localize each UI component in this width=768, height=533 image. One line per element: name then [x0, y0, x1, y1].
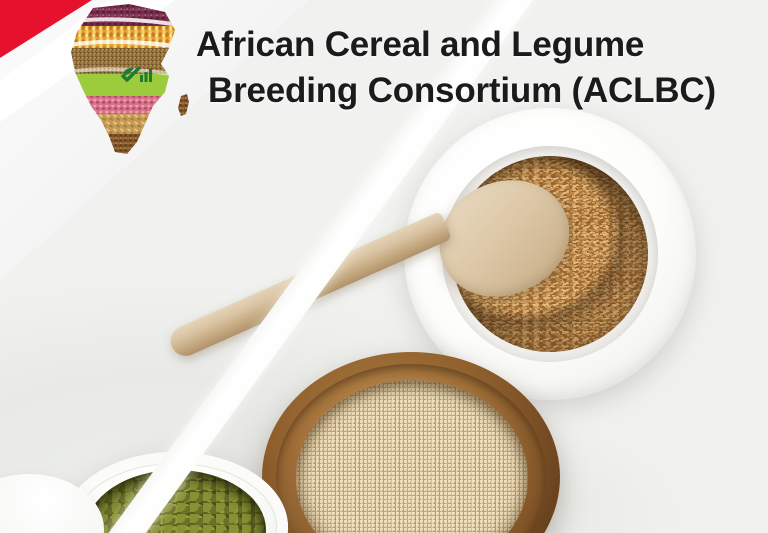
band-wheat: [57, 114, 202, 134]
aclbc-banner: African Cereal and Legume Breeding Conso…: [0, 0, 768, 533]
title-line-2: Breeding Consortium (ACLBC): [196, 68, 756, 114]
banner-title: African Cereal and Legume Breeding Conso…: [196, 22, 756, 114]
title-line-1: African Cereal and Legume: [196, 22, 756, 68]
africa-map-grains-logo: [57, 2, 202, 162]
africa-bands-group: [57, 2, 202, 162]
band-mixed-pulses: [57, 2, 202, 26]
band-sorghum: [57, 134, 202, 162]
madagascar-island: [178, 94, 189, 116]
